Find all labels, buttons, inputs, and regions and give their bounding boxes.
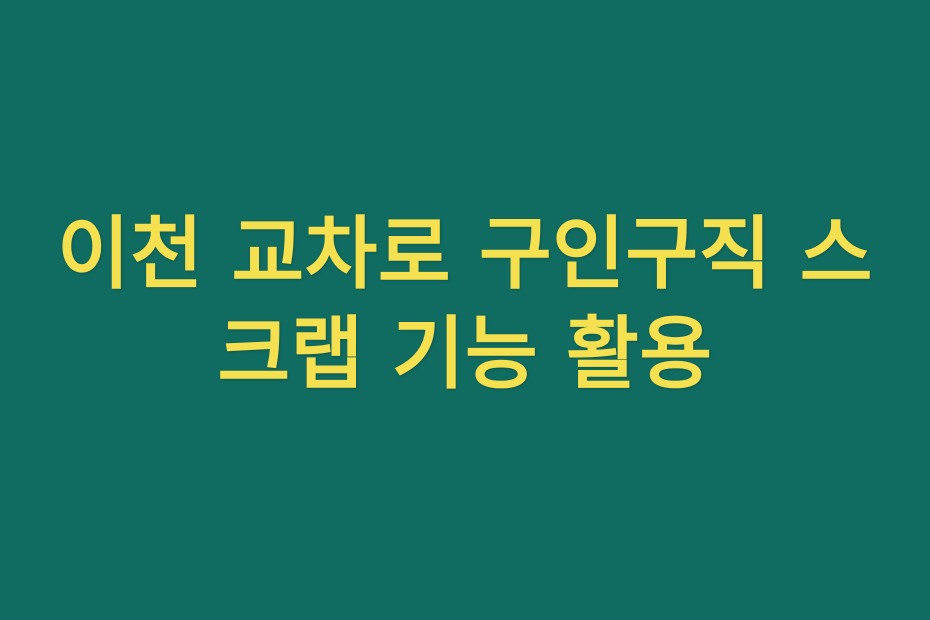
banner-title-line-1: 이천 교차로 구인구직 스 xyxy=(50,204,880,304)
title-banner: 이천 교차로 구인구직 스 크랩 기능 활용 xyxy=(0,0,930,620)
banner-title-line-2: 크랩 기능 활용 xyxy=(50,304,880,404)
banner-title: 이천 교차로 구인구직 스 크랩 기능 활용 xyxy=(50,204,880,404)
